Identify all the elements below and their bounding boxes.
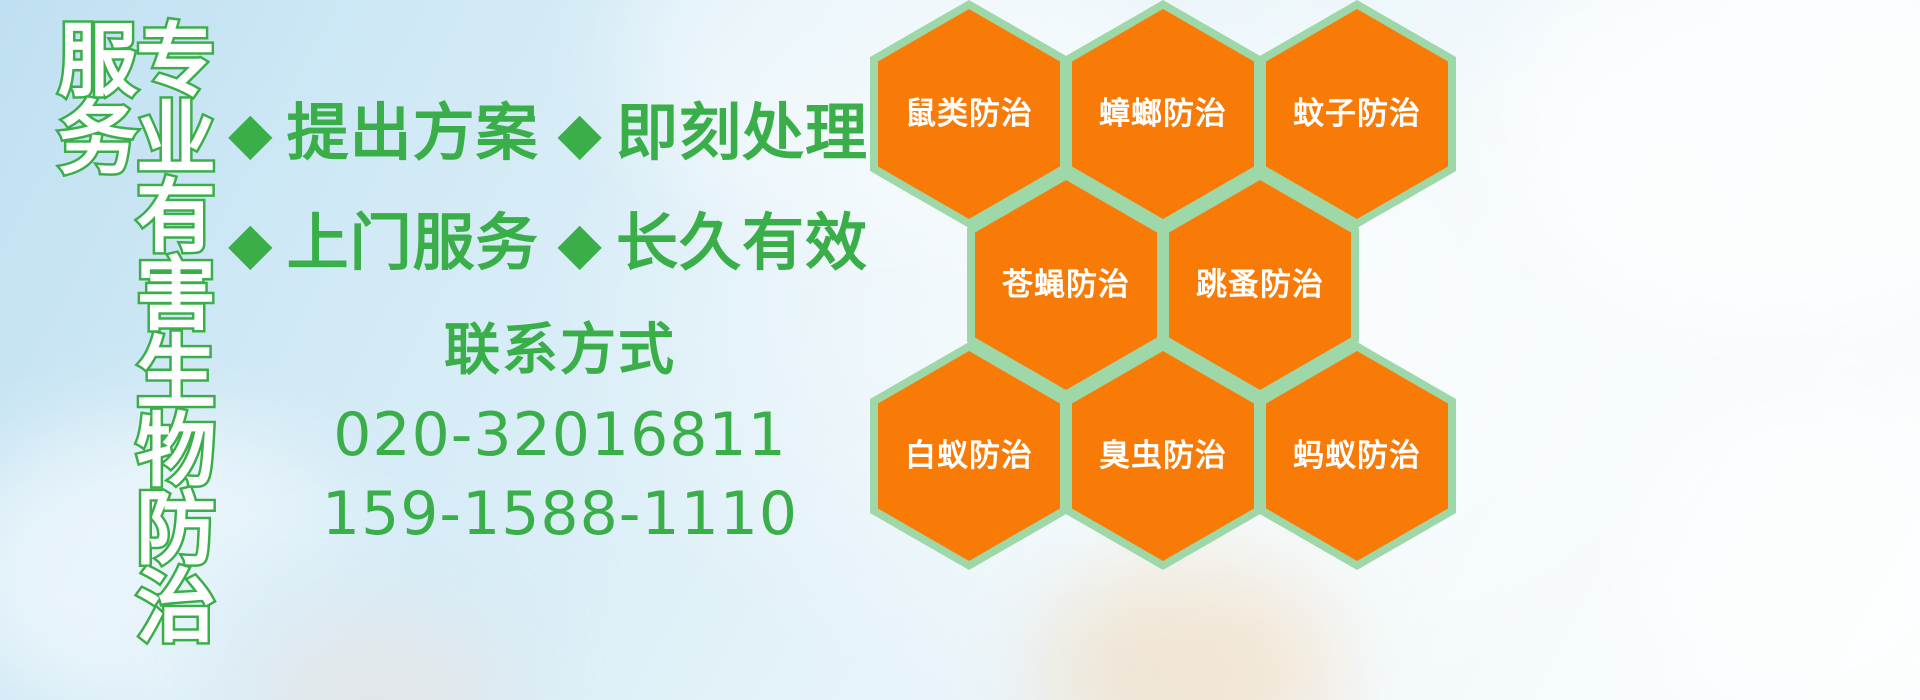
hex-label: 鼠类防治 [905,99,1033,130]
phone-number-mobile[interactable]: 159-1588-1110 [300,475,820,554]
hex-label: 蚂蚁防治 [1293,441,1421,472]
contact-block: 联系方式 020-32016811 159-1588-1110 [300,316,820,554]
feature-label: 长久有效 [616,212,868,274]
feature-row: ◆ 上门服务 ◆ 长久有效 [228,188,868,298]
feature-item-long-lasting: ◆ 长久有效 [557,212,868,274]
hex-inner: 蚂蚁防治 [1266,351,1448,561]
hex-inner: 白蚁防治 [878,351,1060,561]
hex-inner: 跳蚤防治 [1169,180,1351,390]
background-blob [1500,0,1920,340]
phone-number-landline[interactable]: 020-32016811 [300,396,820,475]
feature-label: 提出方案 [287,102,539,164]
feature-item-propose-plan: ◆ 提出方案 [228,102,539,164]
diamond-bullet-icon: ◆ [228,214,273,272]
hex-label: 蟑螂防治 [1099,99,1227,130]
service-hexagon-grid: 鼠类防治 蟑螂防治 蚊子防治 苍蝇防治 跳蚤防治 白蚁防 [862,0,1462,700]
feature-row: ◆ 提出方案 ◆ 即刻处理 [228,78,868,188]
hex-label: 蚊子防治 [1293,99,1421,130]
hex-label: 白蚁防治 [905,441,1033,472]
background-blob [250,610,510,700]
hex-inner: 鼠类防治 [878,9,1060,219]
feature-item-onsite-service: ◆ 上门服务 [228,212,539,274]
hex-inner: 蟑螂防治 [1072,9,1254,219]
feature-list: ◆ 提出方案 ◆ 即刻处理 ◆ 上门服务 ◆ 长久有效 [228,78,868,298]
feature-label: 即刻处理 [616,102,868,164]
contact-title: 联系方式 [300,316,820,386]
feature-item-immediate-handling: ◆ 即刻处理 [557,102,868,164]
hex-inner: 蚊子防治 [1266,9,1448,219]
hex-label: 跳蚤防治 [1196,270,1324,301]
hex-inner: 苍蝇防治 [975,180,1157,390]
diamond-bullet-icon: ◆ [557,214,602,272]
hex-label: 臭虫防治 [1099,441,1227,472]
pest-control-banner: 专业有害生物防治服务 ◆ 提出方案 ◆ 即刻处理 ◆ 上门服务 ◆ 长久有效 [0,0,1920,700]
background-blob [1620,380,1920,700]
diamond-bullet-icon: ◆ [228,104,273,162]
feature-label: 上门服务 [287,212,539,274]
hex-inner: 臭虫防治 [1072,351,1254,561]
vertical-headline: 专业有害生物防治服务 [108,18,208,678]
hex-label: 苍蝇防治 [1002,270,1130,301]
diamond-bullet-icon: ◆ [557,104,602,162]
